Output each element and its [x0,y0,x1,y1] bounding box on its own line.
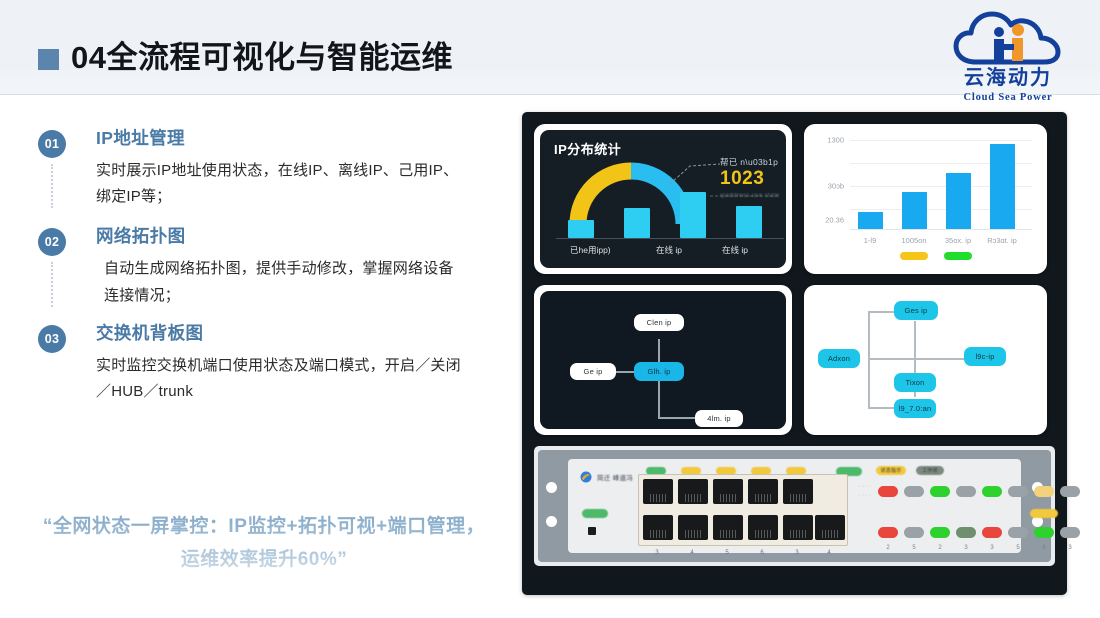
rj45-port-top-3[interactable] [713,479,743,504]
switch-tag-status: 状态指示 [876,466,906,475]
x-label-4: Rɔ3ɑt. ip [987,236,1017,245]
ip-callout-label: 帮已 n\u03b1p [720,156,778,168]
topology-node-4lm-ip[interactable]: 4lm. ip [695,410,743,427]
topology-node-ge-ip[interactable]: Ge ip [570,363,616,380]
page-title: 04全流程可视化与智能运维 [38,42,453,73]
switch-brand-icon [580,471,592,483]
feature-badge-01: 01 [38,130,66,158]
topology-node-clen-ip[interactable]: Clen ip [634,314,684,331]
topology-dark-card: Clen ip Ge ip Glh. ip 4lm. ip [534,285,792,435]
led-r2-6 [1008,527,1028,538]
port-number-5: 3 [795,550,798,556]
switch-dot-matrix: ◦ ◦ ◦ ◦◦ ◦ ◦ ◦ [858,483,872,501]
bar-chart-plot: 1300 30ɔb 20.36 1-l9 1005on 35ox. ip Rɔ3… [850,140,1032,230]
tree-node-adxon[interactable]: Adxon [818,349,860,368]
bar-3 [946,173,971,229]
switch-brand: 简迁 峰道冯 [580,471,633,483]
topology-link-4 [658,417,698,419]
led-r1-7 [1034,486,1054,497]
rj45-port-bottom-3[interactable] [713,515,743,540]
y-tick-2: 30ɔb [828,182,844,191]
ip-distribution-card: IP分布统计 帮已 n\u03b1p 1023 ipaddress use st… [534,124,792,274]
topology-dark-canvas: Clen ip Ge ip Glh. ip 4lm. ip [540,291,786,429]
feature-item-2: 02 网络拓扑图 自动生成网络拓扑图，提供手动修改，掌握网络设备连接情况； [38,226,468,308]
feature-badge-03: 03 [38,325,66,353]
brand-logo: 云海动力 Cloud Sea Power [952,8,1064,112]
feature-desc-2: 自动生成网络拓扑图，提供手动修改，掌握网络设备连接情况； [96,256,468,309]
tree-link-e [914,358,966,360]
x-label-2: 1005on [901,236,926,245]
led-r1-5 [982,486,1002,497]
led-r1-6 [1008,486,1028,497]
rj45-port-top-5[interactable] [783,479,813,504]
y-tick-3: 20.36 [825,216,844,225]
slide-root: 04全流程可视化与智能运维 云海动力 Cloud Sea Power 01 IP… [0,0,1100,618]
led-number-5: 3 [990,545,993,551]
led-r1-2 [904,486,924,497]
led-number-8: 3 [1068,545,1071,551]
title-text: 04全流程可视化与智能运维 [71,42,453,73]
feature-title-1: IP地址管理 [96,128,468,150]
ip-card-title: IP分布统计 [554,139,621,158]
x-label-1: 1-l9 [864,236,877,245]
ip-bar-labels: 已he用ipp) 在线 ip 在线 ip [556,244,784,260]
led-r2-8 [1060,527,1080,538]
feature-title-3: 交换机背板图 [96,323,468,345]
port-number-2: 4 [690,550,693,556]
cloud-people-logo-icon [952,8,1064,70]
board-row-topology: Clen ip Ge ip Glh. ip 4lm. ip Ges ip l9c… [534,285,1055,435]
tree-link-c [868,407,894,409]
feature-connector-2 [51,262,53,306]
rack-hole-left-2 [546,516,557,527]
topology-light-card: Ges ip l9c-ip Adxon Tixon l9_7.0:an [804,285,1047,435]
logo-name-cn: 云海动力 [952,68,1064,88]
topology-node-glh-ip[interactable]: Glh. ip [634,362,684,381]
port-number-4: 6 [760,550,763,556]
tree-node-l9-70an[interactable]: l9_7.0:an [894,399,936,418]
rj45-port-top-4[interactable] [748,479,778,504]
title-bullet-icon [38,49,59,70]
switch-brand-text: 简迁 峰道冯 [597,472,633,482]
led-number-6: 5 [1016,545,1019,551]
rj45-port-top-1[interactable] [643,479,673,504]
switch-tag-secondary [1030,509,1058,518]
switch-port-block [638,474,848,546]
feature-title-2: 网络拓扑图 [96,226,468,248]
ip-bar-4 [736,206,762,238]
x-label-3: 35ox. ip [945,236,971,245]
tree-node-tixon[interactable]: Tixon [894,373,936,392]
rj45-port-bottom-1[interactable] [643,515,673,540]
feature-desc-3: 实时监控交换机端口使用状态及端口模式，开启／关闭／HUB／trunk [96,353,468,406]
led-r1-8 [1060,486,1080,497]
ip-bar-group [562,176,780,238]
board-row-top: IP分布统计 帮已 n\u03b1p 1023 ipaddress use st… [534,124,1055,274]
switch-reset-button[interactable] [588,527,596,535]
logo-name-en: Cloud Sea Power [952,93,1064,104]
led-r1-1 [878,486,898,497]
switch-backplane-card: 简迁 峰道冯 状态指示 工作状 [534,446,1055,566]
ip-bar-baseline [556,238,784,239]
ip-bar-label-3: 在线 ip [722,244,748,256]
switch-rack-chassis: 简迁 峰道冯 状态指示 工作状 [538,450,1051,562]
led-r2-7 [1034,527,1054,538]
feature-badge-02: 02 [38,228,66,256]
bar-chart-axis [850,229,1032,230]
rj45-port-top-2[interactable] [678,479,708,504]
switch-tag-mode: 工作状 [916,466,944,475]
feature-desc-1: 实时展示IP地址使用状态，在线IP、离线IP、己用IP、绑定IP等； [96,158,468,211]
led-r1-3 [930,486,950,497]
ip-distribution-inner: IP分布统计 帮已 n\u03b1p 1023 ipaddress use st… [540,130,786,268]
led-r2-2 [904,527,924,538]
summary-quote: “全网状态一屏掌控：IP监控+拓扑可视+端口管理，运维效率提升60%” [34,510,494,577]
led-number-1: 2 [886,545,889,551]
ip-bar-2 [624,208,650,238]
tree-node-ges-ip[interactable]: Ges ip [894,301,938,320]
bar-4 [990,144,1015,229]
ip-bar-1 [568,220,594,238]
rj45-port-bottom-4[interactable] [748,515,778,540]
bar-chart-card: 1300 30ɔb 20.36 1-l9 1005on 35ox. ip Rɔ3… [804,124,1047,274]
switch-status-tag-left [582,509,608,518]
tree-link-spine [868,311,870,409]
led-r2-1 [878,527,898,538]
led-number-2: 5 [912,545,915,551]
led-r2-3 [930,527,950,538]
port-number-1: 3 [655,550,658,556]
gridline-1 [850,140,1032,141]
tree-node-l9c-ip[interactable]: l9c-ip [964,347,1006,366]
led-number-4: 3 [964,545,967,551]
rj45-port-bottom-5[interactable] [783,515,813,540]
y-tick-1: 1300 [827,136,844,145]
bar-1 [858,212,883,229]
led-number-3: 2 [938,545,941,551]
switch-front-panel: 简迁 峰道冯 状态指示 工作状 [568,459,1021,553]
port-number-3: 5 [725,550,728,556]
led-r2-5 [982,527,1002,538]
rj45-port-bottom-6[interactable] [815,515,845,540]
bar-2 [902,192,927,229]
rj45-port-bottom-2[interactable] [678,515,708,540]
led-r2-4 [956,527,976,538]
ip-bar-label-2: 在线 ip [656,244,682,256]
rack-hole-left-1 [546,482,557,493]
port-number-6: 4 [827,550,830,556]
ip-bar-label-1: 已he用ipp) [570,244,611,256]
board-row-switch: 简迁 峰道冯 状态指示 工作状 [534,446,1055,566]
feature-item-3: 03 交换机背板图 实时监控交换机端口使用状态及端口模式，开启／关闭／HUB／t… [38,323,468,405]
led-number-7: 6 [1042,545,1045,551]
feature-list: 01 IP地址管理 实时展示IP地址使用状态，在线IP、离线IP、己用IP、绑定… [38,128,468,405]
tree-link-a [868,311,894,313]
led-r1-4 [956,486,976,497]
feature-item-1: 01 IP地址管理 实时展示IP地址使用状态，在线IP、离线IP、己用IP、绑定… [38,128,468,210]
legend-pill-yellow [900,252,928,260]
ip-bar-3 [680,192,706,238]
product-screenshot-board: IP分布统计 帮已 n\u03b1p 1023 ipaddress use st… [522,112,1067,595]
legend-pill-green [944,252,972,260]
feature-connector-1 [51,164,53,208]
tree-link-b [868,358,916,360]
